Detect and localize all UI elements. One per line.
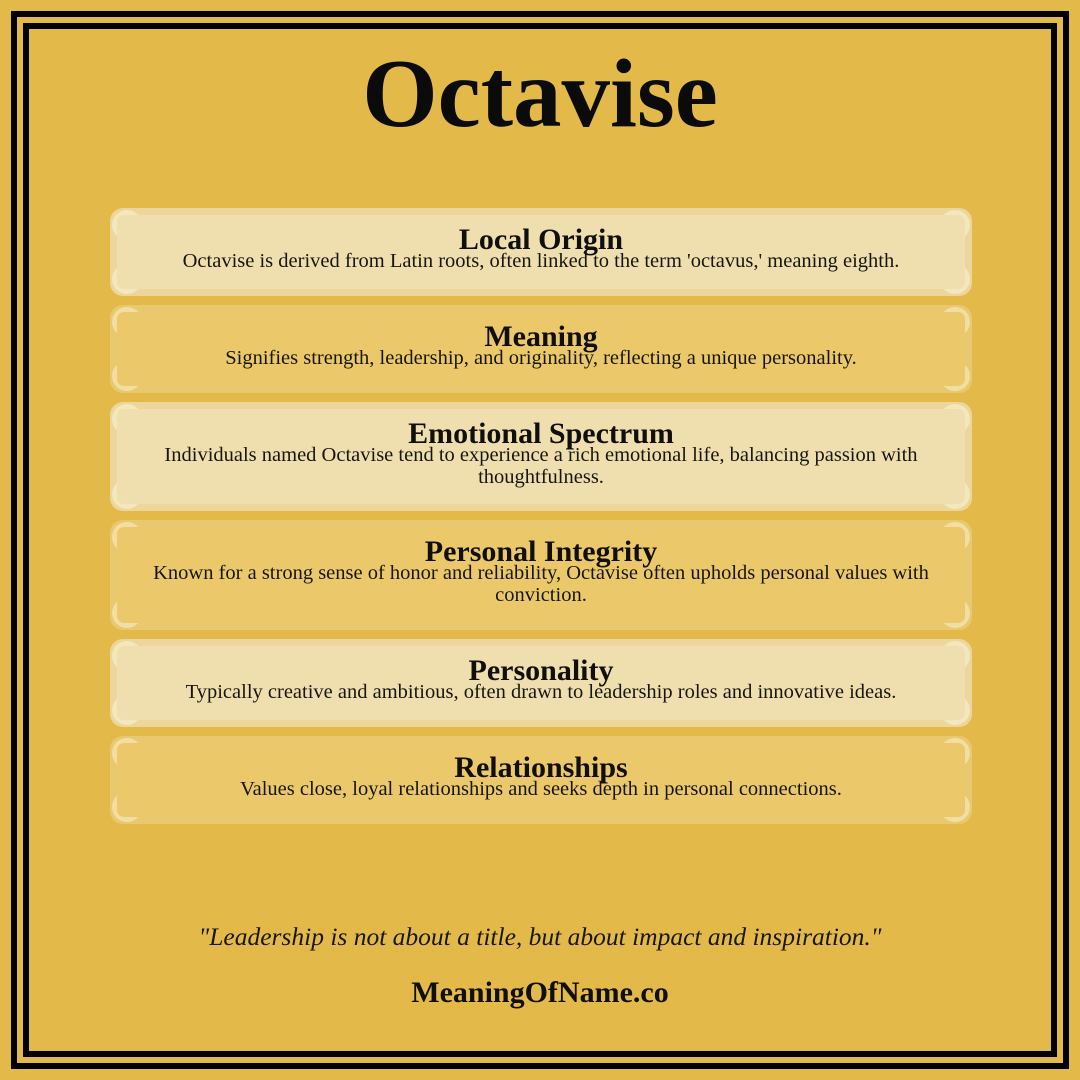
info-card: PersonalityTypically creative and ambiti… (110, 639, 972, 727)
info-card: Emotional SpectrumIndividuals named Octa… (110, 402, 972, 511)
info-card-body: RelationshipsValues close, loyal relatio… (117, 743, 965, 817)
info-card: RelationshipsValues close, loyal relatio… (110, 736, 972, 824)
info-card-description: Values close, loyal relationships and se… (131, 779, 951, 801)
info-card-description: Individuals named Octavise tend to exper… (131, 445, 951, 488)
info-card-description: Signifies strength, leadership, and orig… (131, 348, 951, 370)
poster-content: Octavise Local OriginOctavise is derived… (29, 29, 1051, 1051)
info-card-description: Octavise is derived from Latin roots, of… (131, 251, 951, 273)
info-card-list: Local OriginOctavise is derived from Lat… (110, 208, 972, 833)
info-card-description: Known for a strong sense of honor and re… (131, 563, 951, 606)
page-title: Octavise (29, 45, 1051, 142)
info-card: Local OriginOctavise is derived from Lat… (110, 208, 972, 296)
brand-name: MeaningOfName.co (29, 976, 1051, 1010)
info-card: MeaningSignifies strength, leadership, a… (110, 305, 972, 393)
info-card-body: PersonalityTypically creative and ambiti… (117, 646, 965, 720)
info-card-body: MeaningSignifies strength, leadership, a… (117, 312, 965, 386)
info-card-description: Typically creative and ambitious, often … (131, 682, 951, 704)
info-card-body: Emotional SpectrumIndividuals named Octa… (117, 409, 965, 504)
info-card: Personal IntegrityKnown for a strong sen… (110, 520, 972, 629)
info-card-body: Local OriginOctavise is derived from Lat… (117, 215, 965, 289)
footer-quote: "Leadership is not about a title, but ab… (29, 922, 1051, 952)
info-card-body: Personal IntegrityKnown for a strong sen… (117, 527, 965, 622)
